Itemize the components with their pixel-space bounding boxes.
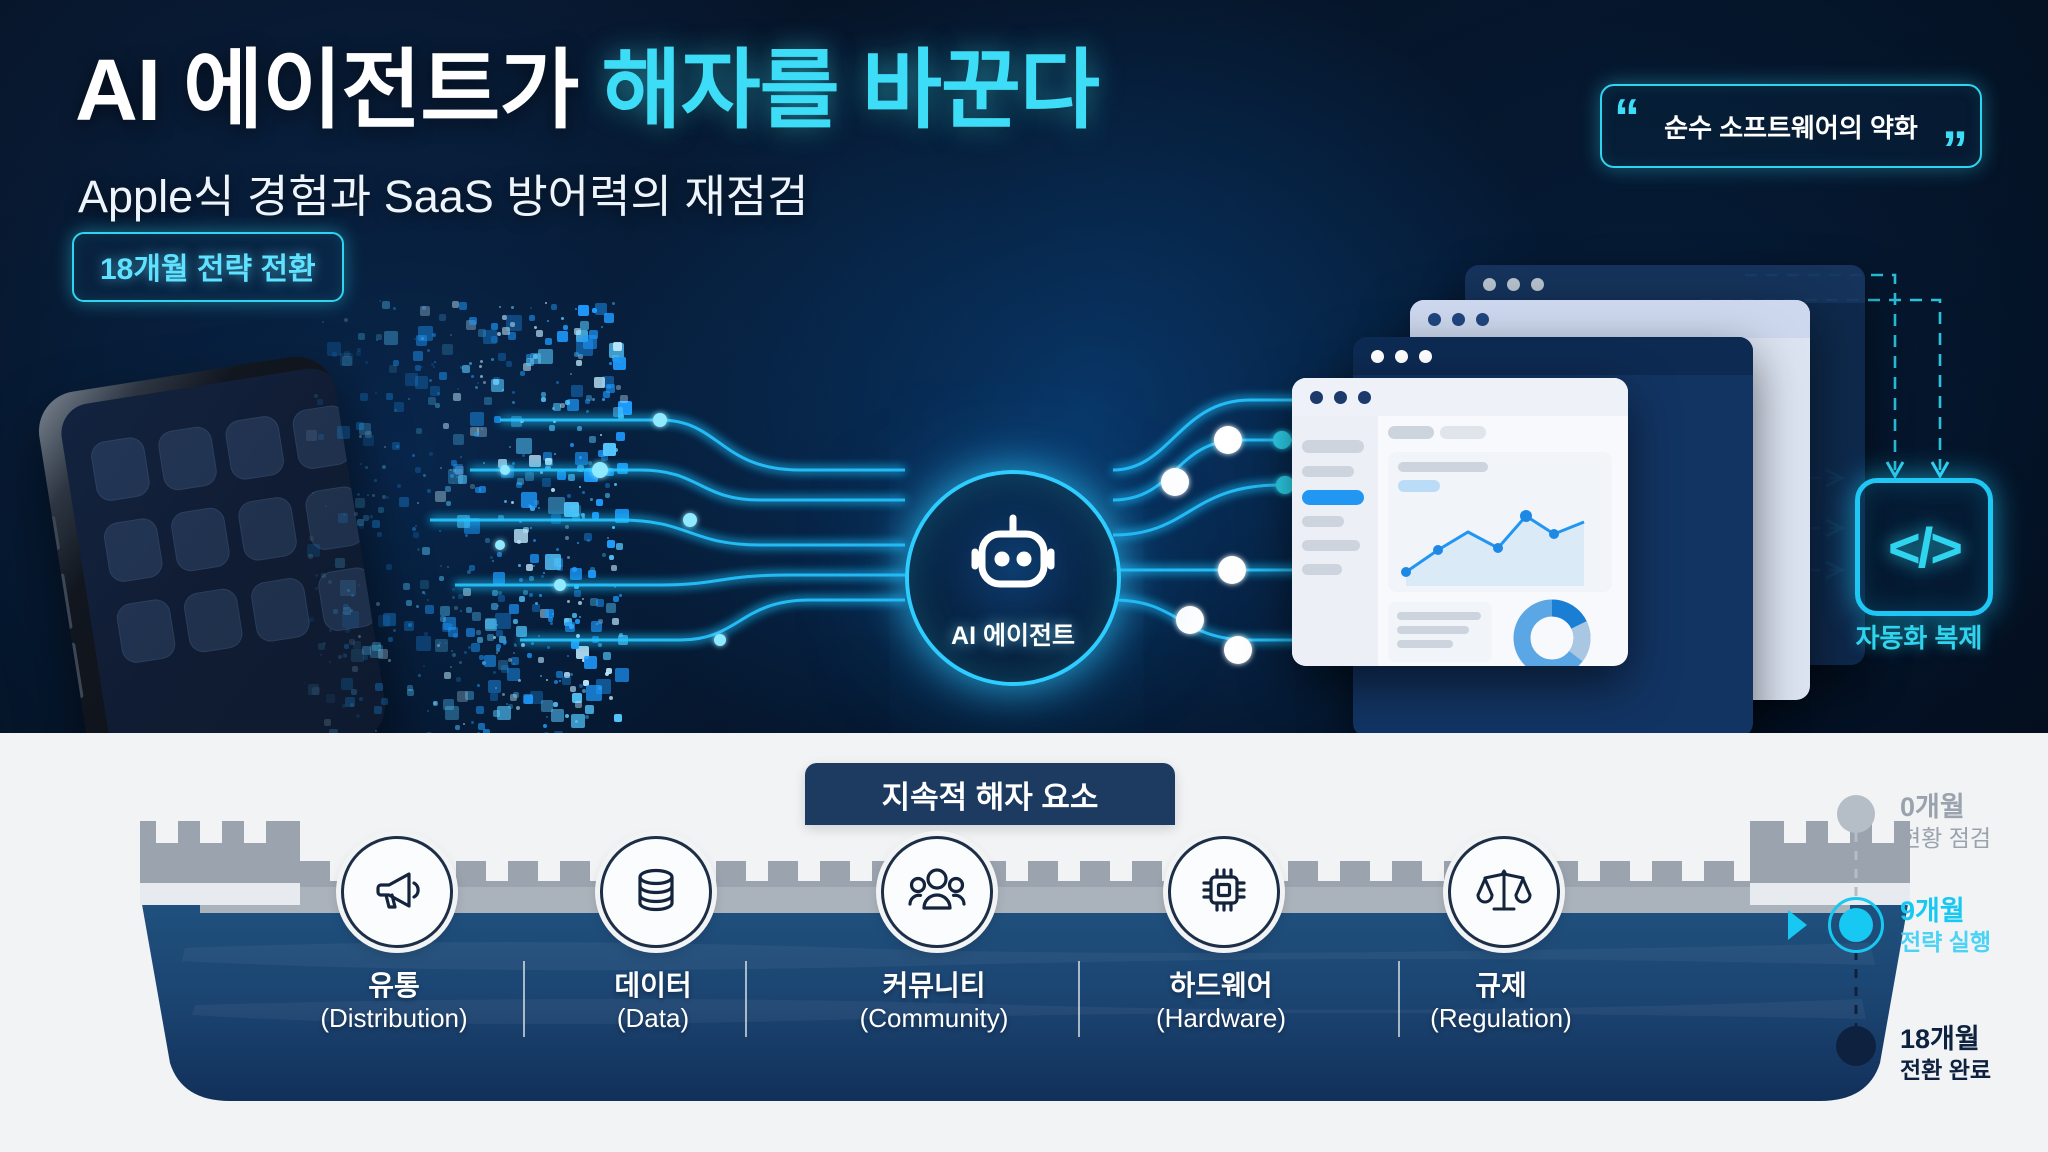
ai-agent-node[interactable]: AI 에이전트 — [905, 470, 1121, 686]
megaphone-icon — [369, 862, 425, 923]
timeline: 0개월 현황 점검 9개월 전략 실행 18개월 전환 완료 — [1800, 773, 2040, 1113]
timeline-title: 0개월 — [1900, 791, 1991, 823]
timeline-title: 9개월 — [1900, 895, 1991, 927]
moat-node-regulation[interactable] — [1448, 836, 1560, 948]
timeline-dot-1[interactable] — [1828, 897, 1884, 953]
moat-label-ko: 규제 — [1386, 969, 1616, 1002]
timeline-desc: 현황 점검 — [1900, 823, 1991, 854]
moat-label-distribution: 유통 (Distribution) — [279, 969, 509, 1035]
code-glyph: </> — [1888, 515, 1960, 580]
timeline-text-1: 9개월 전략 실행 — [1900, 895, 1991, 958]
moat-node-community[interactable] — [881, 836, 993, 948]
moat-label-data: 데이터 (Data) — [538, 969, 768, 1035]
people-group-icon — [908, 864, 966, 921]
automation-label: 자동화 복제 — [1790, 618, 2048, 655]
moat-label-en: (Data) — [538, 1002, 768, 1035]
timeline-dot-0[interactable] — [1837, 795, 1875, 833]
code-icon[interactable]: </> — [1855, 478, 1993, 616]
page-subtitle: Apple식 경험과 SaaS 방어력의 재점검 — [78, 160, 809, 225]
database-icon — [630, 864, 682, 921]
ai-agent-label: AI 에이전트 — [909, 616, 1117, 652]
moat-node-data[interactable] — [600, 836, 712, 948]
timeline-text-0: 0개월 현황 점검 — [1900, 791, 1991, 854]
moat-label-ko: 하드웨어 — [1106, 969, 1336, 1002]
moat-label-community: 커뮤니티 (Community) — [819, 969, 1049, 1035]
strategy-badge: 18개월 전략 전환 — [72, 232, 344, 302]
robot-head-icon — [965, 514, 1061, 601]
moat-header: 지속적 해자 요소 — [805, 763, 1175, 825]
moat-label-ko: 유통 — [279, 969, 509, 1002]
cpu-chip-icon — [1197, 863, 1251, 922]
moat-node-distribution[interactable] — [341, 836, 453, 948]
quote-badge: “ 순수 소프트웨어의 약화 ” — [1600, 84, 1982, 168]
moat-label-en: (Hardware) — [1106, 1002, 1336, 1035]
moat-divider — [1078, 961, 1080, 1037]
title-white: AI 에이전트가 — [75, 42, 578, 139]
moat-label-en: (Distribution) — [279, 1002, 509, 1035]
timeline-desc: 전략 실행 — [1900, 927, 1991, 958]
quote-close-icon: ” — [1942, 132, 1968, 168]
timeline-dot-2[interactable] — [1836, 1026, 1876, 1066]
infographic-root: AI 에이전트 </> 자동화 복제 AI 에이전트가 해자를 바꾼다 Appl… — [0, 0, 2048, 1152]
timeline-desc: 전환 완료 — [1900, 1055, 1991, 1086]
quote-open-icon: “ — [1614, 100, 1640, 136]
moat-label-en: (Regulation) — [1386, 1002, 1616, 1035]
page-title: AI 에이전트가 해자를 바꾼다 — [75, 45, 1099, 136]
timeline-title: 18개월 — [1900, 1023, 1991, 1055]
timeline-text-2: 18개월 전환 완료 — [1900, 1023, 1991, 1086]
moat-divider — [523, 961, 525, 1037]
moat-label-ko: 데이터 — [538, 969, 768, 1002]
moat-node-hardware[interactable] — [1168, 836, 1280, 948]
scales-of-justice-icon — [1476, 863, 1532, 922]
title-cyan: 해자를 바꾼다 — [602, 42, 1099, 139]
moat-label-en: (Community) — [819, 1002, 1049, 1035]
quote-text: 순수 소프트웨어의 약화 — [1664, 108, 1918, 145]
hero-section: AI 에이전트 </> 자동화 복제 AI 에이전트가 해자를 바꾼다 Appl… — [0, 0, 2048, 733]
play-triangle-icon — [1788, 910, 1807, 940]
moat-label-hardware: 하드웨어 (Hardware) — [1106, 969, 1336, 1035]
moat-label-regulation: 규제 (Regulation) — [1386, 969, 1616, 1035]
moat-section: 지속적 해자 요소 유통 (Distribution) — [0, 733, 2048, 1152]
moat-label-ko: 커뮤니티 — [819, 969, 1049, 1002]
